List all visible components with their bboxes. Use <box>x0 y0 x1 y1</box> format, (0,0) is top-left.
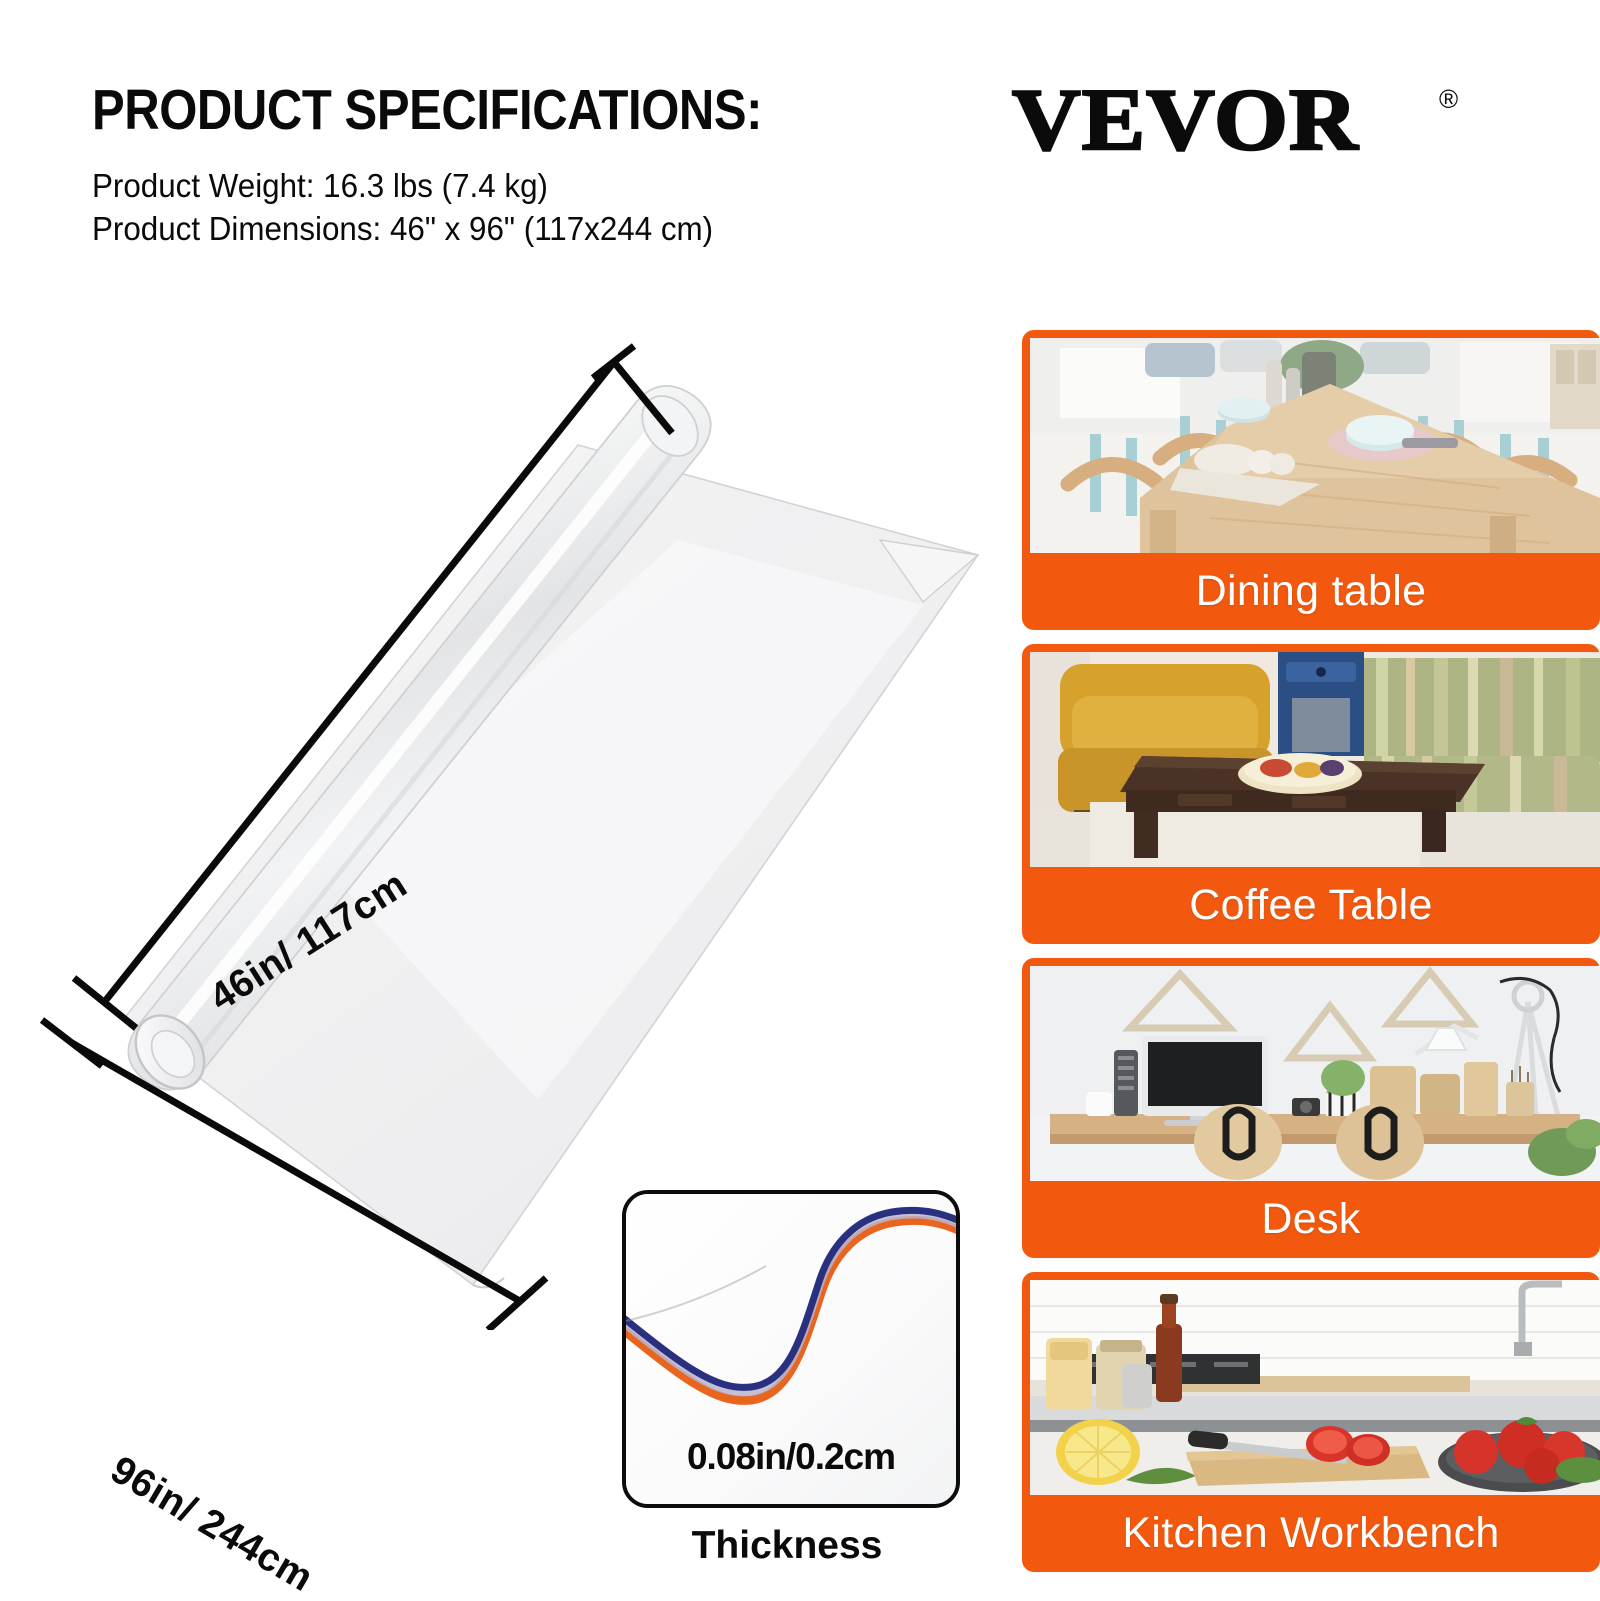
thickness-caption: Thickness <box>622 1524 952 1568</box>
specifications-header: PRODUCT SPECIFICATIONS: Product Weight: … <box>92 82 972 251</box>
usecase-label-desk: Desk <box>1022 1181 1600 1258</box>
rolled-pvc-mat-graphic <box>18 340 988 1330</box>
usecase-card-desk[interactable]: Desk <box>1022 958 1600 1258</box>
usecase-card-list: Dining table <box>1022 330 1600 1586</box>
thickness-callout: 0.08in/0.2cm Thickness <box>622 1190 952 1568</box>
dimension-label-length: 96in/ 244cm <box>103 1448 321 1601</box>
registered-trademark-icon: ® <box>1439 84 1458 115</box>
usecase-photo-desk <box>1030 966 1600 1181</box>
usecase-card-kitchen-workbench[interactable]: Kitchen Workbench <box>1022 1272 1600 1572</box>
usecase-photo-coffee-table <box>1030 652 1600 867</box>
usecase-card-coffee-table[interactable]: Coffee Table <box>1022 644 1600 944</box>
spec-product-dimensions: Product Dimensions: 46" x 96" (117x244 c… <box>92 208 928 251</box>
thickness-value: 0.08in/0.2cm <box>626 1436 956 1478</box>
usecase-label-dining-table: Dining table <box>1022 553 1600 630</box>
usecase-photo-dining-table <box>1030 338 1600 553</box>
thickness-detail-box: 0.08in/0.2cm <box>622 1190 960 1508</box>
product-illustration: 46in/ 117cm 96in/ 244cm <box>18 340 988 1330</box>
vevor-logo: VEVOR ® <box>1012 78 1492 170</box>
usecase-label-coffee-table: Coffee Table <box>1022 867 1600 944</box>
usecase-card-dining-table[interactable]: Dining table <box>1022 330 1600 630</box>
usecase-label-kitchen-workbench: Kitchen Workbench <box>1022 1495 1600 1572</box>
spec-product-weight: Product Weight: 16.3 lbs (7.4 kg) <box>92 165 928 208</box>
usecase-photo-kitchen-workbench <box>1030 1280 1600 1495</box>
page-title: PRODUCT SPECIFICATIONS: <box>92 82 849 139</box>
